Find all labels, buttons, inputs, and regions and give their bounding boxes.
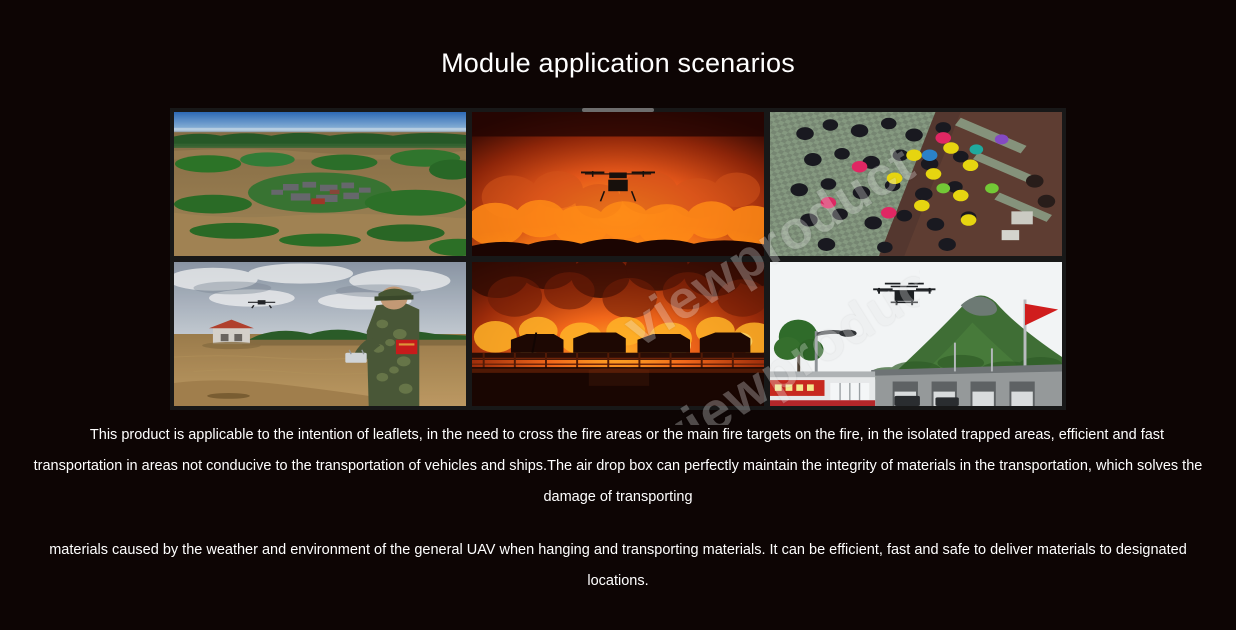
gallery-item-drone-over-village[interactable] <box>770 262 1062 406</box>
gallery-item-drone-over-wildfire[interactable] <box>472 112 764 256</box>
image-grid <box>170 108 1066 410</box>
description-paragraph-1: This product is applicable to the intent… <box>28 420 1208 513</box>
gallery-item-flooded-village-aerial[interactable] <box>174 112 466 256</box>
bridge-vehicle-fire-image <box>472 262 764 406</box>
soldier-with-controller-image <box>174 262 466 406</box>
gallery-item-rescue-crowd-aerial[interactable] <box>770 112 1062 256</box>
drone-over-wildfire-image <box>472 112 764 256</box>
gallery-item-soldier-with-controller[interactable] <box>174 262 466 406</box>
drone-over-village-image <box>770 262 1062 406</box>
gallery-item-bridge-vehicle-fire[interactable] <box>472 262 764 406</box>
description-paragraph-2: materials caused by the weather and envi… <box>28 535 1208 597</box>
rescue-crowd-aerial-image <box>770 112 1062 256</box>
gallery-drag-handle[interactable] <box>582 108 654 112</box>
gallery-panel <box>170 108 1066 410</box>
page-title: Module application scenarios <box>0 0 1236 77</box>
flooded-village-aerial-image <box>174 112 466 256</box>
description-block: This product is applicable to the intent… <box>0 420 1236 597</box>
